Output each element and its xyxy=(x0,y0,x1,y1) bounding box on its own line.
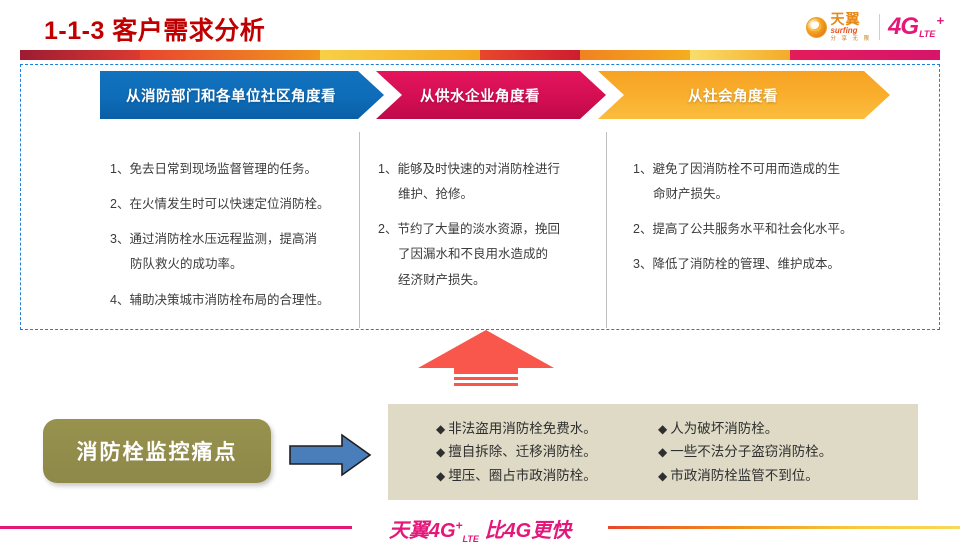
list-item-continuation: 防队救火的成功率。 xyxy=(110,255,349,273)
tianyi-brand-en: surfing xyxy=(830,27,871,35)
list-item: 4、辅助决策城市消防栓布局的合理性。 xyxy=(110,291,349,309)
list-item: ◆市政消防栓监管不到位。 xyxy=(658,467,832,485)
column-water-utility: 1、能够及时快速的对消防栓进行 维护、抢修。 2、节约了大量的淡水资源，挽回 了… xyxy=(359,132,606,328)
chevron-water-utility[interactable]: 从供水企业角度看 xyxy=(376,71,606,119)
list-item: ◆埋压、圈占市政消防栓。 xyxy=(436,467,654,485)
list-item-label: 市政消防栓监管不到位。 xyxy=(670,468,819,483)
fourg-logo: 4G LTE + xyxy=(888,13,944,41)
list-item: ◆非法盗用消防栓免费水。 xyxy=(436,420,654,438)
perspective-chevron-row: 从消防部门和各单位社区角度看 从供水企业角度看 从社会角度看 xyxy=(100,71,890,119)
up-arrow-head xyxy=(418,330,554,368)
list-item-label: 非法盗用消防栓免费水。 xyxy=(448,421,597,436)
footer-network: 4G xyxy=(429,520,456,542)
list-item-label: 一些不法分子盗窃消防栓。 xyxy=(670,444,832,459)
slide-footer: 天翼4G+LTE 比4G更快 xyxy=(0,510,960,540)
up-arrow-stripe xyxy=(454,383,518,386)
list-item-continuation: 维护、抢修。 xyxy=(378,185,596,203)
list-item-label: 人为破坏消防栓。 xyxy=(670,421,778,436)
tianyi-logo-text: 天翼 surfing 分 享 无 限 xyxy=(830,12,871,43)
list-item-label: 擅自拆除、迁移消防栓。 xyxy=(448,444,597,459)
diamond-bullet-icon: ◆ xyxy=(436,422,445,436)
list-item: ◆一些不法分子盗窃消防栓。 xyxy=(658,443,832,461)
list-item: 2、提高了公共服务水平和社会化水平。 xyxy=(633,220,928,238)
diamond-bullet-icon: ◆ xyxy=(658,422,667,436)
column-society: 1、避免了因消防栓不可用而造成的生 命财产损失。 2、提高了公共服务水平和社会化… xyxy=(606,132,938,328)
list-item-continuation: 经济财产损失。 xyxy=(378,271,596,289)
logo-divider xyxy=(879,14,880,40)
brand-logo: 天翼 surfing 分 享 无 限 4G LTE + xyxy=(806,10,944,44)
right-arrow-icon xyxy=(288,433,372,477)
diamond-bullet-icon: ◆ xyxy=(658,445,667,459)
diamond-bullet-icon: ◆ xyxy=(658,469,667,483)
diamond-bullet-icon: ◆ xyxy=(436,445,445,459)
chevron-label: 从社会角度看 xyxy=(688,85,778,106)
list-item: ◆人为破坏消防栓。 xyxy=(658,420,832,438)
list-item: 1、避免了因消防栓不可用而造成的生 xyxy=(633,160,928,178)
list-item: 2、节约了大量的淡水资源，挽回 xyxy=(378,220,596,238)
list-item-continuation: 命财产损失。 xyxy=(633,185,928,203)
title-decorative-ribbon xyxy=(20,50,940,60)
page-title: 1-1-3 客户需求分析 xyxy=(44,11,265,47)
ribbon-segment xyxy=(320,50,500,60)
list-item: 1、能够及时快速的对消防栓进行 xyxy=(378,160,596,178)
column-fire-department: 1、免去日常到现场监督管理的任务。 2、在火情发生时可以快速定位消防栓。 3、通… xyxy=(22,132,359,328)
perspective-columns: 1、免去日常到现场监督管理的任务。 2、在火情发生时可以快速定位消防栓。 3、通… xyxy=(22,132,938,328)
pain-points-box: ◆非法盗用消防栓免费水。 ◆人为破坏消防栓。 ◆擅自拆除、迁移消防栓。 ◆一些不… xyxy=(388,404,918,500)
diamond-bullet-icon: ◆ xyxy=(436,469,445,483)
pain-points-list: ◆非法盗用消防栓免费水。 ◆人为破坏消防栓。 ◆擅自拆除、迁移消防栓。 ◆一些不… xyxy=(436,420,832,485)
up-arrow-body xyxy=(454,366,518,374)
tianyi-brand-cn: 天翼 xyxy=(830,12,871,26)
list-item-continuation: 了因漏水和不良用水造成的 xyxy=(378,245,596,263)
footer-lte: LTE xyxy=(463,534,479,544)
chevron-fire-department[interactable]: 从消防部门和各单位社区角度看 xyxy=(100,71,384,119)
tianyi-logo: 天翼 surfing 分 享 无 限 xyxy=(806,12,871,43)
list-item: ◆擅自拆除、迁移消防栓。 xyxy=(436,443,654,461)
plus-icon: + xyxy=(936,13,944,28)
ribbon-segment xyxy=(20,50,150,60)
footer-plus-icon: + xyxy=(456,518,463,532)
ribbon-segment xyxy=(790,50,940,60)
up-arrow-stripe xyxy=(454,377,518,380)
list-item: 3、通过消防栓水压远程监测，提高消 xyxy=(110,230,349,248)
chevron-society[interactable]: 从社会角度看 xyxy=(598,71,890,119)
chevron-label: 从供水企业角度看 xyxy=(420,85,540,106)
list-item: 2、在火情发生时可以快速定位消防栓。 xyxy=(110,195,349,213)
lte-label: LTE xyxy=(919,29,935,39)
list-item: 3、降低了消防栓的管理、维护成本。 xyxy=(633,255,928,273)
tianyi-tagline: 分 享 无 限 xyxy=(830,37,871,43)
up-arrow-icon xyxy=(418,330,554,392)
fourg-label: 4G xyxy=(888,13,918,41)
chevron-label: 从消防部门和各单位社区角度看 xyxy=(126,85,336,106)
list-item: 1、免去日常到现场监督管理的任务。 xyxy=(110,160,349,178)
pain-points-label: 消防栓监控痛点 xyxy=(43,419,271,483)
footer-slogan-text: 比4G更快 xyxy=(484,520,571,542)
tianyi-swirl-icon xyxy=(806,17,827,38)
ribbon-segment xyxy=(140,50,340,60)
footer-brand: 天翼 xyxy=(389,520,429,542)
list-item-label: 埋压、圈占市政消防栓。 xyxy=(448,468,597,483)
